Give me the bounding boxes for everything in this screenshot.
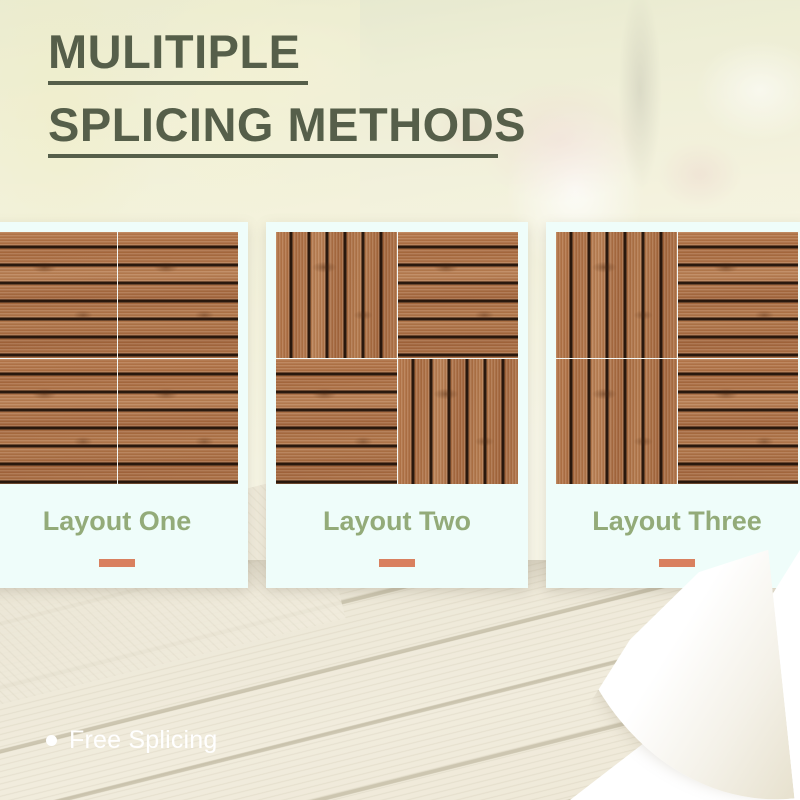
headline-line-2: SPLICING METHODS [48,101,748,148]
tile [678,359,799,485]
layout-card-three[interactable]: Layout Three [546,222,800,588]
layout-card-one[interactable]: Layout One [0,222,248,588]
tile [398,232,519,358]
layout-card-two[interactable]: Layout Two [266,222,528,588]
headline-block: MULITIPLE SPLICING METHODS [48,28,748,158]
tile [556,232,677,358]
tile [556,359,677,485]
card-caption: Layout Two [323,506,471,537]
bullet-dot-icon [46,735,57,746]
card-accent-dash [659,559,695,567]
card-accent-dash [99,559,135,567]
tile [398,359,519,485]
headline-underline-1 [48,81,308,85]
headline-line-1: MULITIPLE [48,28,748,75]
layout-cards-row: Layout One Layout Two Layout Three [0,222,800,588]
tile [276,232,397,358]
headline-underline-2 [48,154,498,158]
tile [118,359,239,485]
footer-feature: Free Splicing [46,726,218,755]
tile [678,232,799,358]
tile-grid-one [0,232,238,484]
tile-grid-two [276,232,518,484]
card-accent-dash [379,559,415,567]
product-marketing-banner: MULITIPLE SPLICING METHODS Layout One La [0,0,800,800]
card-caption: Layout Three [592,506,762,537]
tile [118,232,239,358]
tile-grid-three [556,232,798,484]
footer-feature-label: Free Splicing [69,726,218,755]
tile [0,232,117,358]
tile [276,359,397,485]
card-caption: Layout One [43,506,192,537]
tile [0,359,117,485]
